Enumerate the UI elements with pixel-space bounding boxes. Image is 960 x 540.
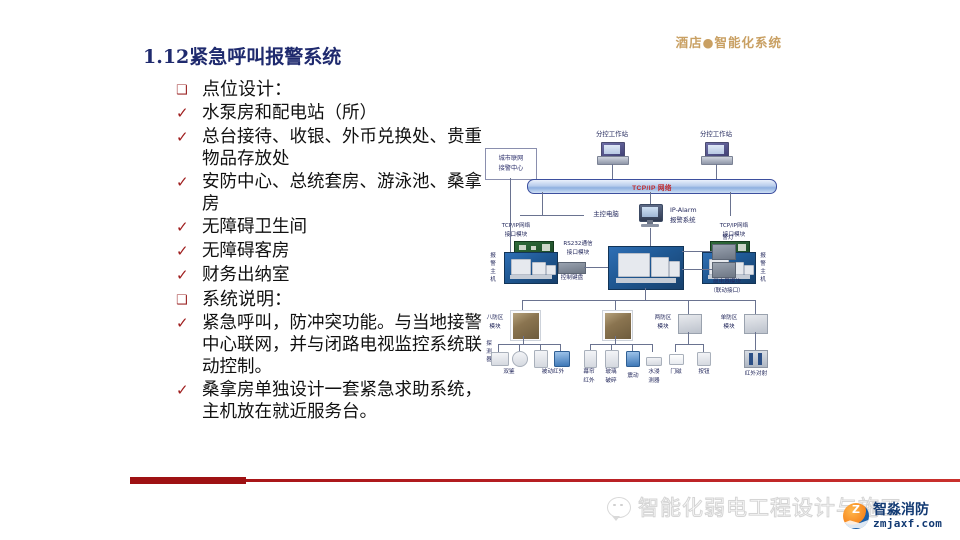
zone-module-8-line2: 模块 bbox=[480, 323, 510, 332]
sensor-label: 玻璃 bbox=[599, 368, 623, 377]
alarm-lamp-icon bbox=[712, 244, 736, 260]
city-alarm-center-box: 城市联网 接警中心 bbox=[485, 148, 537, 180]
connector-line bbox=[675, 344, 676, 352]
list-item-label: 紧急呼叫，防冲突功能。与当地接警中心联网，并与闭路电视监控系统联动控制。 bbox=[202, 312, 496, 378]
sensor-bus-line bbox=[675, 344, 703, 345]
zone-module-8-line1: 八防区 bbox=[480, 314, 510, 323]
control-keyboard bbox=[558, 262, 586, 274]
connector-line bbox=[498, 344, 499, 352]
alarm-host-right-label: 报警主机 bbox=[758, 252, 768, 284]
sensor-body bbox=[646, 357, 662, 366]
list-item: ✓ 水泵房和配电站（所） bbox=[176, 102, 496, 125]
sensor-label: 震动 bbox=[622, 372, 644, 381]
footer-rule-thick bbox=[130, 477, 246, 484]
host-panel bbox=[744, 265, 754, 275]
sensor-pir bbox=[534, 350, 546, 366]
monitor-base bbox=[701, 156, 733, 165]
logo-website: zmjaxf.com bbox=[873, 518, 942, 530]
connector-line bbox=[755, 332, 756, 352]
page-title: 1.12紧急呼叫报警系统 bbox=[143, 42, 341, 69]
bullet-list: ❑ 点位设计： ✓ 水泵房和配电站（所） ✓ 总台接待、收银、外币兑换处、贵重物… bbox=[176, 78, 496, 424]
list-item: ✓ 无障碍客房 bbox=[176, 240, 496, 263]
main-pc-label: 主控电脑 bbox=[584, 210, 628, 219]
connector-line bbox=[615, 336, 616, 344]
list-item-label: 系统说明： bbox=[202, 288, 292, 311]
check-bullet-icon: ✓ bbox=[176, 126, 202, 149]
card-chip bbox=[531, 246, 536, 250]
host-terminal-strip bbox=[616, 278, 676, 283]
sensor-vibration bbox=[626, 351, 638, 365]
sensor-body bbox=[512, 351, 528, 367]
connector-line bbox=[730, 192, 731, 216]
beam-bar bbox=[749, 353, 753, 365]
square-bullet-icon: ❑ bbox=[176, 288, 202, 311]
sensor-label: 双鉴 bbox=[492, 368, 526, 377]
list-item-label: 桑拿房单独设计一套紧急求助系统，主机放在就近服务台。 bbox=[202, 379, 496, 423]
ip-alarm-label-line1: IP-Alarm bbox=[670, 206, 716, 215]
list-item-label: 无障碍卫生间 bbox=[202, 216, 307, 239]
company-logo: Z 智淼消防 zmjaxf.com bbox=[843, 503, 942, 529]
footer-rule-thin bbox=[246, 479, 960, 482]
connector-line bbox=[650, 228, 651, 246]
list-item-label: 点位设计： bbox=[202, 78, 292, 101]
sensor-body bbox=[697, 352, 711, 366]
list-item: ❑ 系统说明： bbox=[176, 288, 496, 311]
connector-line bbox=[755, 300, 756, 314]
zone-module-2-line1: 两防区 bbox=[648, 314, 678, 323]
module-face bbox=[605, 313, 631, 339]
relay-module-line2: （联动接口） bbox=[704, 287, 750, 296]
sensor-dual-tech-2 bbox=[512, 351, 526, 365]
pc-foot bbox=[641, 224, 659, 227]
connector-line bbox=[584, 267, 608, 268]
connector-line bbox=[682, 251, 712, 252]
city-alarm-center-line2: 接警中心 bbox=[499, 164, 524, 174]
sensor-label: 红外对射 bbox=[738, 370, 774, 379]
card-chip bbox=[519, 245, 526, 250]
workstation-left-monitor bbox=[597, 142, 627, 164]
connector-line bbox=[612, 164, 613, 180]
sensor-label: 被动红外 bbox=[533, 368, 573, 377]
zone-module-1 bbox=[744, 314, 768, 334]
connector-line bbox=[510, 178, 511, 256]
connector-line bbox=[682, 269, 712, 270]
alarm-lamp-label: 警灯 bbox=[712, 234, 744, 243]
connector-line bbox=[688, 300, 689, 314]
logo-text-block: 智淼消防 zmjaxf.com bbox=[873, 503, 942, 529]
list-item-label: 水泵房和配电站（所） bbox=[202, 102, 377, 125]
host-panel bbox=[511, 259, 531, 275]
zone-module-2 bbox=[678, 314, 702, 334]
tcp-module-left-line2: 接口模块 bbox=[490, 231, 542, 240]
connector-line bbox=[716, 164, 717, 180]
wechat-icon bbox=[607, 497, 631, 518]
connector-line bbox=[523, 336, 524, 344]
sensor-label: 按钮 bbox=[692, 368, 716, 377]
sensor-body bbox=[491, 352, 509, 366]
check-bullet-icon: ✓ bbox=[176, 171, 202, 194]
relay-module-icon bbox=[712, 262, 736, 278]
sensor-label: 测器 bbox=[643, 377, 665, 386]
beam-bar bbox=[758, 353, 762, 365]
control-keyboard-label: 控制键盘 bbox=[552, 274, 592, 283]
workstation-left-label: 分控工作站 bbox=[584, 130, 640, 139]
host-panel bbox=[532, 262, 546, 275]
list-item: ✓ 紧急呼叫，防冲突功能。与当地接警中心联网，并与闭路电视监控系统联动控制。 bbox=[176, 312, 496, 378]
sensor-label: 破碎 bbox=[599, 377, 623, 386]
sensor-water-leak bbox=[646, 357, 660, 364]
tcpip-network-label: TCP/IP 网络 bbox=[632, 182, 672, 192]
tcpip-network-bar: TCP/IP 网络 bbox=[527, 179, 777, 194]
card-port bbox=[542, 244, 550, 251]
sensor-curtain-ir bbox=[584, 350, 595, 366]
zone-module-8-second bbox=[602, 310, 633, 341]
sensor-glass-break bbox=[605, 350, 617, 366]
connector-line bbox=[542, 192, 543, 216]
sensor-ir-beam bbox=[744, 350, 768, 368]
zone-module-8 bbox=[510, 310, 541, 341]
host-panel bbox=[669, 261, 680, 277]
check-bullet-icon: ✓ bbox=[176, 216, 202, 239]
connector-line bbox=[688, 332, 689, 344]
list-item: ✓ 总台接待、收银、外币兑换处、贵重物品存放处 bbox=[176, 126, 496, 170]
module-face bbox=[513, 313, 539, 339]
check-bullet-icon: ✓ bbox=[176, 379, 202, 402]
host-panel bbox=[651, 257, 669, 277]
list-item-label: 安防中心、总统套房、游泳池、桑拿房 bbox=[202, 171, 496, 215]
list-item: ✓ 桑拿房单独设计一套紧急求助系统，主机放在就近服务台。 bbox=[176, 379, 496, 423]
sensor-dual-tech bbox=[491, 352, 507, 364]
zone-bus-line bbox=[522, 300, 755, 301]
list-item: ✓ 财务出纳室 bbox=[176, 264, 496, 287]
square-bullet-icon: ❑ bbox=[176, 78, 202, 101]
connector-line bbox=[522, 300, 523, 310]
host-panel bbox=[618, 253, 650, 277]
sensor-body bbox=[669, 354, 684, 365]
list-item: ❑ 点位设计： bbox=[176, 78, 496, 101]
card-port bbox=[738, 244, 746, 251]
sensor-panic-button bbox=[697, 352, 709, 364]
connector-line bbox=[645, 288, 646, 300]
zone-module-1-line2: 模块 bbox=[714, 323, 744, 332]
city-alarm-center-line1: 城市联网 bbox=[499, 154, 524, 164]
list-item-label: 财务出纳室 bbox=[202, 264, 290, 287]
connector-line bbox=[703, 344, 704, 352]
relay-module-line1: 继电器模块 bbox=[704, 278, 750, 287]
workstation-right-label: 分控工作站 bbox=[688, 130, 744, 139]
sensor-bus-line bbox=[498, 344, 560, 345]
sensor-door-contact bbox=[669, 354, 682, 363]
logo-company-name: 智淼消防 bbox=[873, 503, 942, 518]
sensor-body bbox=[626, 351, 640, 367]
rs232-module-line1: RS232通信 bbox=[552, 240, 604, 249]
check-bullet-icon: ✓ bbox=[176, 240, 202, 263]
monitor-base bbox=[597, 156, 629, 165]
sensor-label: 幕帘 bbox=[577, 368, 601, 377]
list-item: ✓ 安防中心、总统套房、游泳池、桑拿房 bbox=[176, 171, 496, 215]
tcp-module-left-line1: TCP/IP网络 bbox=[490, 222, 542, 231]
zone-module-2-line2: 模块 bbox=[648, 323, 678, 332]
sensor-body bbox=[554, 351, 570, 367]
tcp-module-right-line1: TCP/IP网络 bbox=[708, 222, 760, 231]
host-terminal-strip bbox=[510, 275, 552, 279]
list-item: ✓ 无障碍卫生间 bbox=[176, 216, 496, 239]
main-control-pc bbox=[636, 204, 664, 230]
check-bullet-icon: ✓ bbox=[176, 102, 202, 125]
sensor-body bbox=[605, 350, 619, 368]
check-bullet-icon: ✓ bbox=[176, 312, 202, 335]
check-bullet-icon: ✓ bbox=[176, 264, 202, 287]
sensor-body bbox=[584, 350, 597, 368]
zone-module-1-line1: 单防区 bbox=[714, 314, 744, 323]
logo-badge-icon: Z bbox=[843, 503, 869, 529]
workstation-right-monitor bbox=[701, 142, 731, 164]
header-brand: 酒店●智能化系统 bbox=[676, 32, 782, 51]
list-item-label: 总台接待、收银、外币兑换处、贵重物品存放处 bbox=[202, 126, 496, 170]
rs232-module-line2: 接口模块 bbox=[552, 249, 604, 258]
sensor-label: 水浸 bbox=[643, 368, 665, 377]
connector-line bbox=[520, 215, 584, 216]
sensor-body bbox=[534, 350, 548, 368]
alarm-host-left bbox=[504, 252, 558, 284]
alarm-host-center bbox=[608, 246, 684, 290]
system-topology-diagram: 城市联网 接警中心 分控工作站 分控工作站 TCP/IP 网络 主控电脑 bbox=[480, 128, 780, 393]
list-item-label: 无障碍客房 bbox=[202, 240, 290, 263]
sensor-pir-2 bbox=[554, 351, 568, 365]
connector-line bbox=[615, 300, 616, 310]
sensor-label: 门磁 bbox=[664, 368, 688, 377]
connector-line bbox=[652, 344, 653, 352]
sensor-label: 红外 bbox=[577, 377, 601, 386]
sensor-bus-line bbox=[590, 344, 652, 345]
alarm-host-left-label: 报警主机 bbox=[488, 252, 498, 284]
slide-root: 酒店●智能化系统 1.12紧急呼叫报警系统 ❑ 点位设计： ✓ 水泵房和配电站（… bbox=[0, 0, 960, 540]
